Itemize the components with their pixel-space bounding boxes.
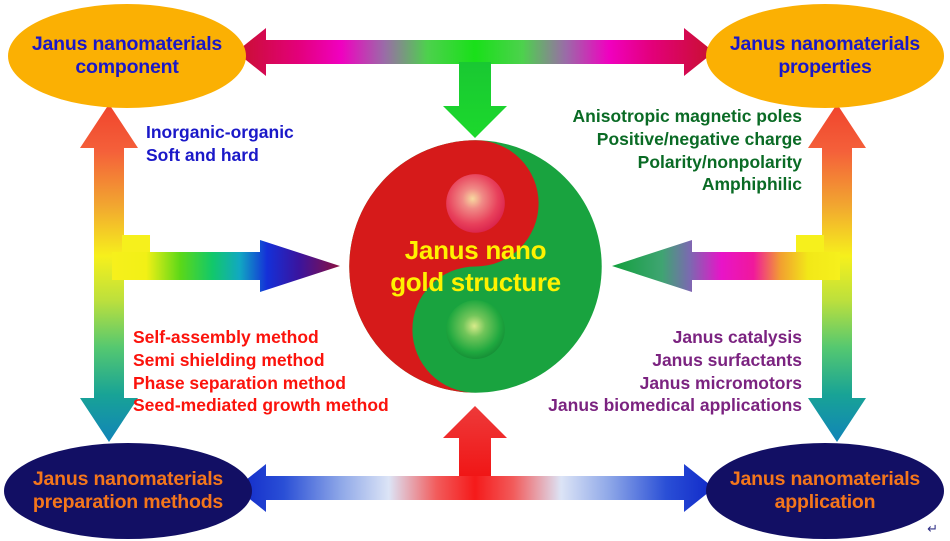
arrow-right-branch-green (612, 240, 840, 292)
node-app-line1: Janus nanomaterials (730, 468, 920, 491)
annotation-application-notes: Janus catalysis Janus surfactants Janus … (548, 326, 802, 417)
node-prep-line1: Janus nanomaterials (33, 468, 223, 491)
node-janus-nanomaterials-properties[interactable]: Janus nanomaterials properties (706, 4, 944, 108)
node-janus-nanomaterials-component[interactable]: Janus nanomaterials component (8, 4, 246, 108)
diagram-canvas: Janus nano gold structure Janus nanomate… (0, 0, 950, 541)
arrow-left-branch-shape (112, 240, 340, 292)
arrow-left-branch-rainbow (112, 240, 340, 292)
arrow-bottom-stem-shape (443, 406, 507, 480)
janus-dot-top (446, 174, 505, 233)
annotation-properties-notes: Anisotropic magnetic poles Positive/nega… (573, 105, 802, 196)
arrow-top-stem-shape (443, 62, 507, 138)
annotation-preparation-notes: Self-assembly method Semi shielding meth… (133, 326, 389, 417)
arrow-right-branch-shape (612, 240, 840, 292)
node-janus-nanomaterials-application[interactable]: Janus nanomaterials application (706, 443, 944, 539)
annotation-component-notes: Inorganic-organic Soft and hard (146, 121, 294, 167)
node-properties-line1: Janus nanomaterials (730, 33, 920, 56)
node-properties-line2: properties (778, 56, 871, 79)
node-janus-nanomaterials-preparation-methods[interactable]: Janus nanomaterials preparation methods (4, 443, 252, 539)
node-component-line1: Janus nanomaterials (32, 33, 222, 56)
node-app-line2: application (775, 491, 876, 514)
node-component-line2: component (75, 56, 178, 79)
arrow-bottom-horizontal (236, 404, 714, 520)
janus-dot-bottom (446, 300, 505, 359)
node-prep-line2: preparation methods (33, 491, 223, 514)
paragraph-mark: ↵ (927, 521, 938, 537)
